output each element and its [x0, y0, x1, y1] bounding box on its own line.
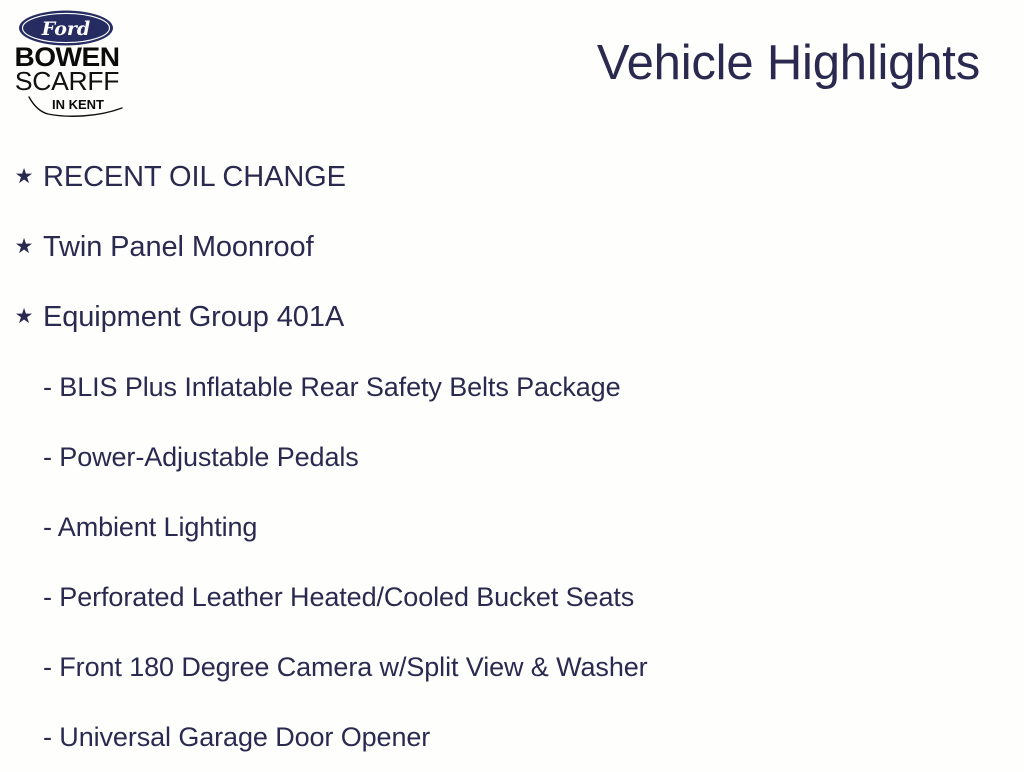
- highlight-sub-item: - BLIS Plus Inflatable Rear Safety Belts…: [0, 352, 1024, 422]
- star-bullet-icon: ★: [14, 212, 34, 282]
- dealer-location-row: IN KENT: [8, 97, 126, 119]
- highlight-item: ★ RECENT OIL CHANGE: [0, 142, 1024, 212]
- highlight-sub-label: - Front 180 Degree Camera w/Split View &…: [43, 632, 648, 702]
- star-bullet-icon: ★: [14, 282, 34, 352]
- highlight-sub-label: - Universal Garage Door Opener: [43, 702, 430, 772]
- highlight-item: ★ Twin Panel Moonroof: [0, 212, 1024, 282]
- highlight-label: Twin Panel Moonroof: [43, 212, 314, 282]
- star-bullet-icon: ★: [14, 142, 34, 212]
- highlight-sub-item: - Ambient Lighting: [0, 492, 1024, 562]
- highlight-sub-label: - Ambient Lighting: [43, 492, 257, 562]
- dealer-name-line-3: IN KENT: [52, 98, 104, 111]
- highlight-sub-item: - Power-Adjustable Pedals: [0, 422, 1024, 492]
- vehicle-highlights-list: ★ RECENT OIL CHANGE ★ Twin Panel Moonroo…: [0, 142, 1024, 772]
- highlight-sub-item: - Perforated Leather Heated/Cooled Bucke…: [0, 562, 1024, 632]
- svg-text:Ford: Ford: [41, 18, 90, 40]
- highlight-item: ★ Equipment Group 401A: [0, 282, 1024, 352]
- highlight-sub-item: - Front 180 Degree Camera w/Split View &…: [0, 632, 1024, 702]
- page-header: Ford BOWEN SCARFF IN KENT Vehicle Highli…: [0, 0, 1024, 125]
- dealer-name-line-2: SCARFF: [7, 68, 127, 94]
- highlight-sub-label: - Perforated Leather Heated/Cooled Bucke…: [43, 562, 634, 632]
- highlight-label: RECENT OIL CHANGE: [43, 142, 346, 212]
- page-title: Vehicle Highlights: [597, 34, 980, 93]
- highlight-sub-item: - Universal Garage Door Opener: [0, 702, 1024, 772]
- highlight-sub-label: - Power-Adjustable Pedals: [43, 422, 359, 492]
- highlight-label: Equipment Group 401A: [43, 282, 344, 352]
- dealer-logo[interactable]: Ford BOWEN SCARFF IN KENT: [8, 6, 126, 120]
- highlight-sub-label: - BLIS Plus Inflatable Rear Safety Belts…: [43, 352, 621, 422]
